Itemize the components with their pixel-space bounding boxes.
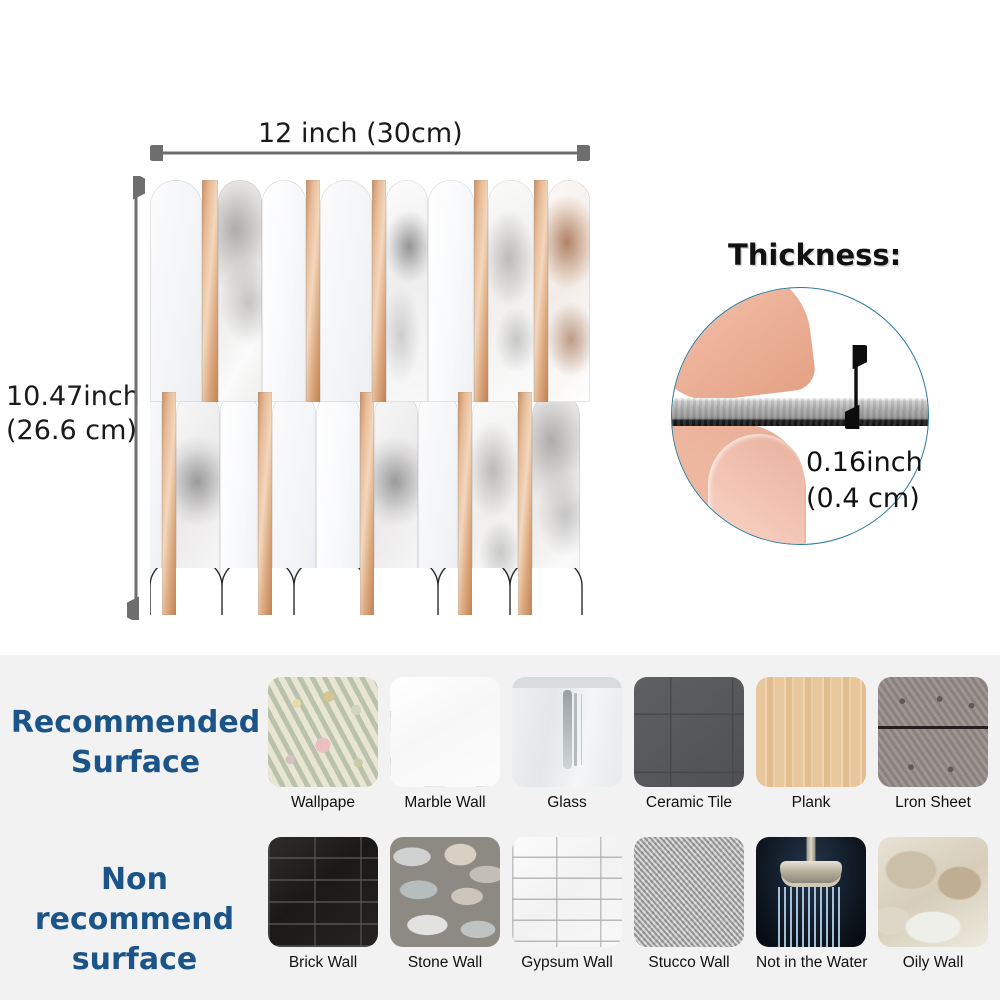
shower-head — [780, 861, 842, 883]
surface-label: Plank — [756, 794, 866, 812]
fingernail — [708, 434, 804, 545]
thickness-value-line1: 0.16inch — [806, 445, 923, 481]
surface-item: Stone Wall — [390, 837, 500, 972]
tile-strip — [258, 392, 272, 615]
surface-item: Wallpape — [268, 677, 378, 812]
surface-thumbnail — [390, 837, 500, 947]
tile-strip — [518, 392, 532, 615]
surface-thumbnail — [268, 837, 378, 947]
surface-item: Gypsum Wall — [512, 837, 622, 972]
tile-strip — [458, 392, 472, 615]
surface-item: Plank — [756, 677, 866, 812]
height-dimension-line1: 10.47inch — [6, 380, 140, 414]
tile-strip — [386, 180, 428, 402]
surface-item: Marble Wall — [390, 677, 500, 812]
surface-item: Ceramic Tile — [634, 677, 744, 812]
shower-pipe — [807, 837, 816, 863]
tile-product-image — [150, 180, 590, 615]
tile-strip — [218, 180, 262, 402]
surface-label: Stone Wall — [390, 954, 500, 972]
thickness-value-line2: (0.4 cm) — [806, 481, 923, 517]
tile-strip — [548, 180, 590, 402]
surface-item: Lron Sheet — [878, 677, 988, 812]
surface-thumbnail — [878, 677, 988, 787]
non-recommended-label-line2: surface — [2, 940, 267, 980]
surface-item: Oily Wall — [878, 837, 988, 972]
surface-thumbnail — [268, 677, 378, 787]
surface-thumbnail — [756, 677, 866, 787]
tile-edge-crosssection — [671, 398, 929, 426]
surface-label: Marble Wall — [390, 794, 500, 812]
surface-label: Stucco Wall — [634, 954, 744, 972]
surface-label: Oily Wall — [878, 954, 988, 972]
tile-strip — [162, 392, 176, 615]
tile-strip — [150, 180, 202, 402]
tile-strip — [372, 180, 386, 402]
tile-strip — [320, 180, 372, 402]
shower-water-stream — [778, 887, 844, 947]
surface-label: Not in the Water — [756, 954, 866, 972]
recommended-label-line2: Surface — [8, 743, 263, 783]
non-recommended-label-line1: Non recommend — [2, 860, 267, 940]
surface-item: Not in the Water — [756, 837, 866, 972]
surface-thumbnail — [634, 837, 744, 947]
top-section: 12 inch (30cm) 10.47inch (26.6 cm) — [0, 0, 1000, 655]
surface-label: Ceramic Tile — [634, 794, 744, 812]
tile-strip — [202, 180, 218, 402]
surface-item: Stucco Wall — [634, 837, 744, 972]
height-dimension-arrow — [127, 176, 145, 620]
tile-strip — [360, 392, 374, 615]
surface-label: Wallpape — [268, 794, 378, 812]
height-dimension-label: 10.47inch (26.6 cm) — [6, 380, 140, 448]
surface-item: Glass — [512, 677, 622, 812]
tile-strip — [474, 180, 488, 402]
surface-thumbnail — [634, 677, 744, 787]
surface-compatibility-section: Recommended Surface WallpapeMarble WallG… — [0, 655, 1000, 1000]
surface-thumbnail — [756, 837, 866, 947]
surface-thumbnail — [512, 677, 622, 787]
recommended-surface-label: Recommended Surface — [8, 703, 263, 783]
surface-label: Lron Sheet — [878, 794, 988, 812]
surface-label: Glass — [512, 794, 622, 812]
height-dimension-line2: (26.6 cm) — [6, 414, 140, 448]
tile-strip — [306, 180, 320, 402]
tile-strip — [488, 180, 534, 402]
tile-strip — [428, 180, 474, 402]
tile-strip — [534, 180, 548, 402]
finger-top — [671, 287, 817, 407]
surface-label: Brick Wall — [268, 954, 378, 972]
thickness-measure-arrow — [845, 345, 867, 429]
surface-thumbnail — [512, 837, 622, 947]
surface-thumbnail — [390, 677, 500, 787]
tile-row-top — [150, 180, 590, 402]
surface-thumbnail — [878, 837, 988, 947]
surface-label: Gypsum Wall — [512, 954, 622, 972]
tile-strip — [262, 180, 306, 402]
recommended-label-line1: Recommended — [8, 703, 263, 743]
surface-item: Brick Wall — [268, 837, 378, 972]
non-recommended-surface-label: Non recommend surface — [2, 860, 267, 980]
thickness-value: 0.16inch (0.4 cm) — [806, 445, 923, 517]
width-dimension-arrow — [150, 145, 590, 161]
thickness-heading: Thickness: — [728, 238, 901, 272]
product-infographic: Mix Metal Stone Tile 12 inch (30cm) 10.4… — [0, 0, 1000, 1000]
